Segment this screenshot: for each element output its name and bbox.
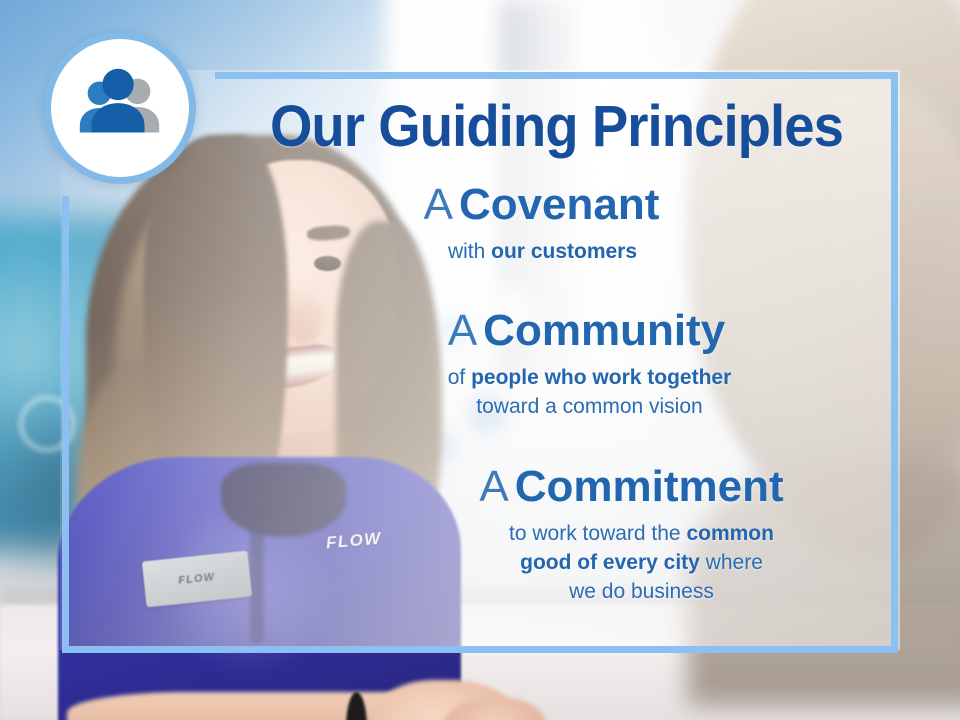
subline-segment-bold: good of every city (520, 551, 700, 574)
principle-heading: ACovenant (215, 182, 898, 228)
principle-heading: ACommitment (215, 464, 898, 510)
subline-segment-bold: people who work together (471, 366, 731, 389)
principle-heading: ACommunity (215, 308, 898, 354)
subline-segment: to work toward the (509, 522, 686, 545)
principle-subline: with our customers (215, 238, 870, 267)
principle-subline: of people who work together (281, 364, 898, 393)
principle-keyword: Community (483, 306, 725, 355)
subline-segment: where (700, 551, 763, 574)
principle-keyword: Commitment (515, 462, 784, 511)
name-badge-text: FLOW (178, 571, 216, 587)
principle-block-commitment: ACommitment to work toward the common go… (215, 464, 898, 607)
principle-block-covenant: ACovenant with our customers (215, 182, 898, 267)
guiding-principles-graphic: FLOW FLOW (0, 0, 960, 720)
subline-segment-bold: our customers (491, 240, 637, 263)
principle-article: A (448, 306, 477, 355)
page-title: Our Guiding Principles (235, 98, 877, 156)
subline-segment: of (448, 366, 471, 389)
principle-block-community: ACommunity of people who work together t… (215, 308, 898, 422)
subline-segment-bold: common (686, 522, 774, 545)
text-content: Our Guiding Principles ACovenant with ou… (215, 72, 898, 653)
principle-subline: good of every city where (385, 549, 898, 578)
subline-segment: we do business (569, 580, 714, 603)
people-group-badge (44, 32, 196, 184)
car-emblem (19, 396, 75, 452)
principle-subtext: of people who work together toward a com… (215, 364, 898, 422)
principle-article: A (479, 462, 508, 511)
principle-subline: we do business (385, 578, 898, 607)
subline-segment: with (448, 240, 491, 263)
subline-segment: toward a common vision (476, 395, 702, 418)
principle-subtext: with our customers (215, 238, 898, 267)
principle-subtext: to work toward the common good of every … (215, 520, 898, 607)
principle-keyword: Covenant (459, 180, 659, 229)
principle-article: A (424, 180, 453, 229)
people-group-icon (71, 59, 169, 157)
principle-subline: toward a common vision (281, 393, 898, 422)
principle-subline: to work toward the common (385, 520, 898, 549)
